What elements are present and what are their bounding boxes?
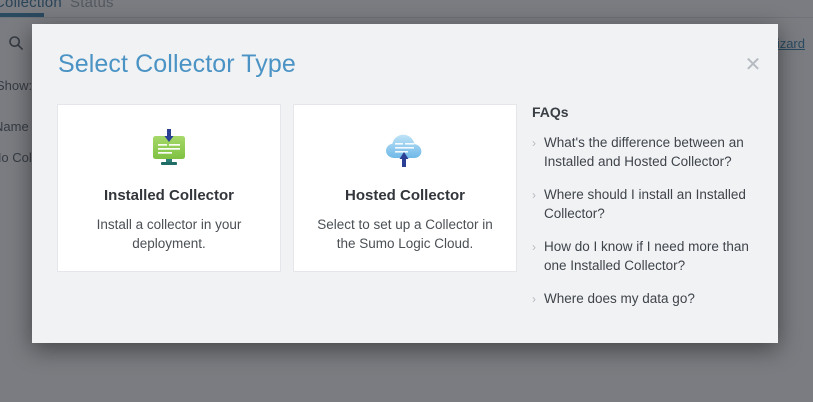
card-hosted-collector[interactable]: Hosted Collector Select to set up a Coll… — [293, 104, 517, 272]
installed-collector-monitor-icon — [146, 127, 192, 173]
chevron-right-icon: › — [532, 134, 536, 171]
chevron-right-icon: › — [532, 238, 536, 275]
faq-item[interactable]: › Where does my data go? — [532, 290, 757, 309]
card-title: Hosted Collector — [345, 187, 465, 204]
faq-item-label: Where does my data go? — [544, 290, 695, 309]
card-installed-collector[interactable]: Installed Collector Install a collector … — [57, 104, 281, 272]
card-description: Install a collector in your deployment. — [74, 215, 264, 253]
faq-item-label: How do I know if I need more than one In… — [544, 238, 757, 275]
chevron-right-icon: › — [532, 186, 536, 223]
faq-item-label: Where should I install an Installed Coll… — [544, 186, 757, 223]
collector-type-card-list: Installed Collector Install a collector … — [57, 104, 517, 272]
card-description: Select to set up a Collector in the Sumo… — [310, 215, 500, 253]
faq-item-label: What's the difference between an Install… — [544, 134, 757, 171]
faq-item[interactable]: › Where should I install an Installed Co… — [532, 186, 757, 223]
close-icon[interactable]: ✕ — [742, 54, 764, 76]
dialog-title: Select Collector Type — [58, 50, 296, 79]
card-title: Installed Collector — [104, 187, 234, 204]
chevron-right-icon: › — [532, 290, 536, 309]
select-collector-type-dialog: ✕ Select Collector Type — [32, 24, 778, 343]
faq-heading: FAQs — [532, 104, 757, 120]
faq-section: FAQs › What's the difference between an … — [532, 104, 757, 324]
faq-item[interactable]: › How do I know if I need more than one … — [532, 238, 757, 275]
faq-item[interactable]: › What's the difference between an Insta… — [532, 134, 757, 171]
hosted-collector-cloud-icon — [382, 127, 428, 173]
